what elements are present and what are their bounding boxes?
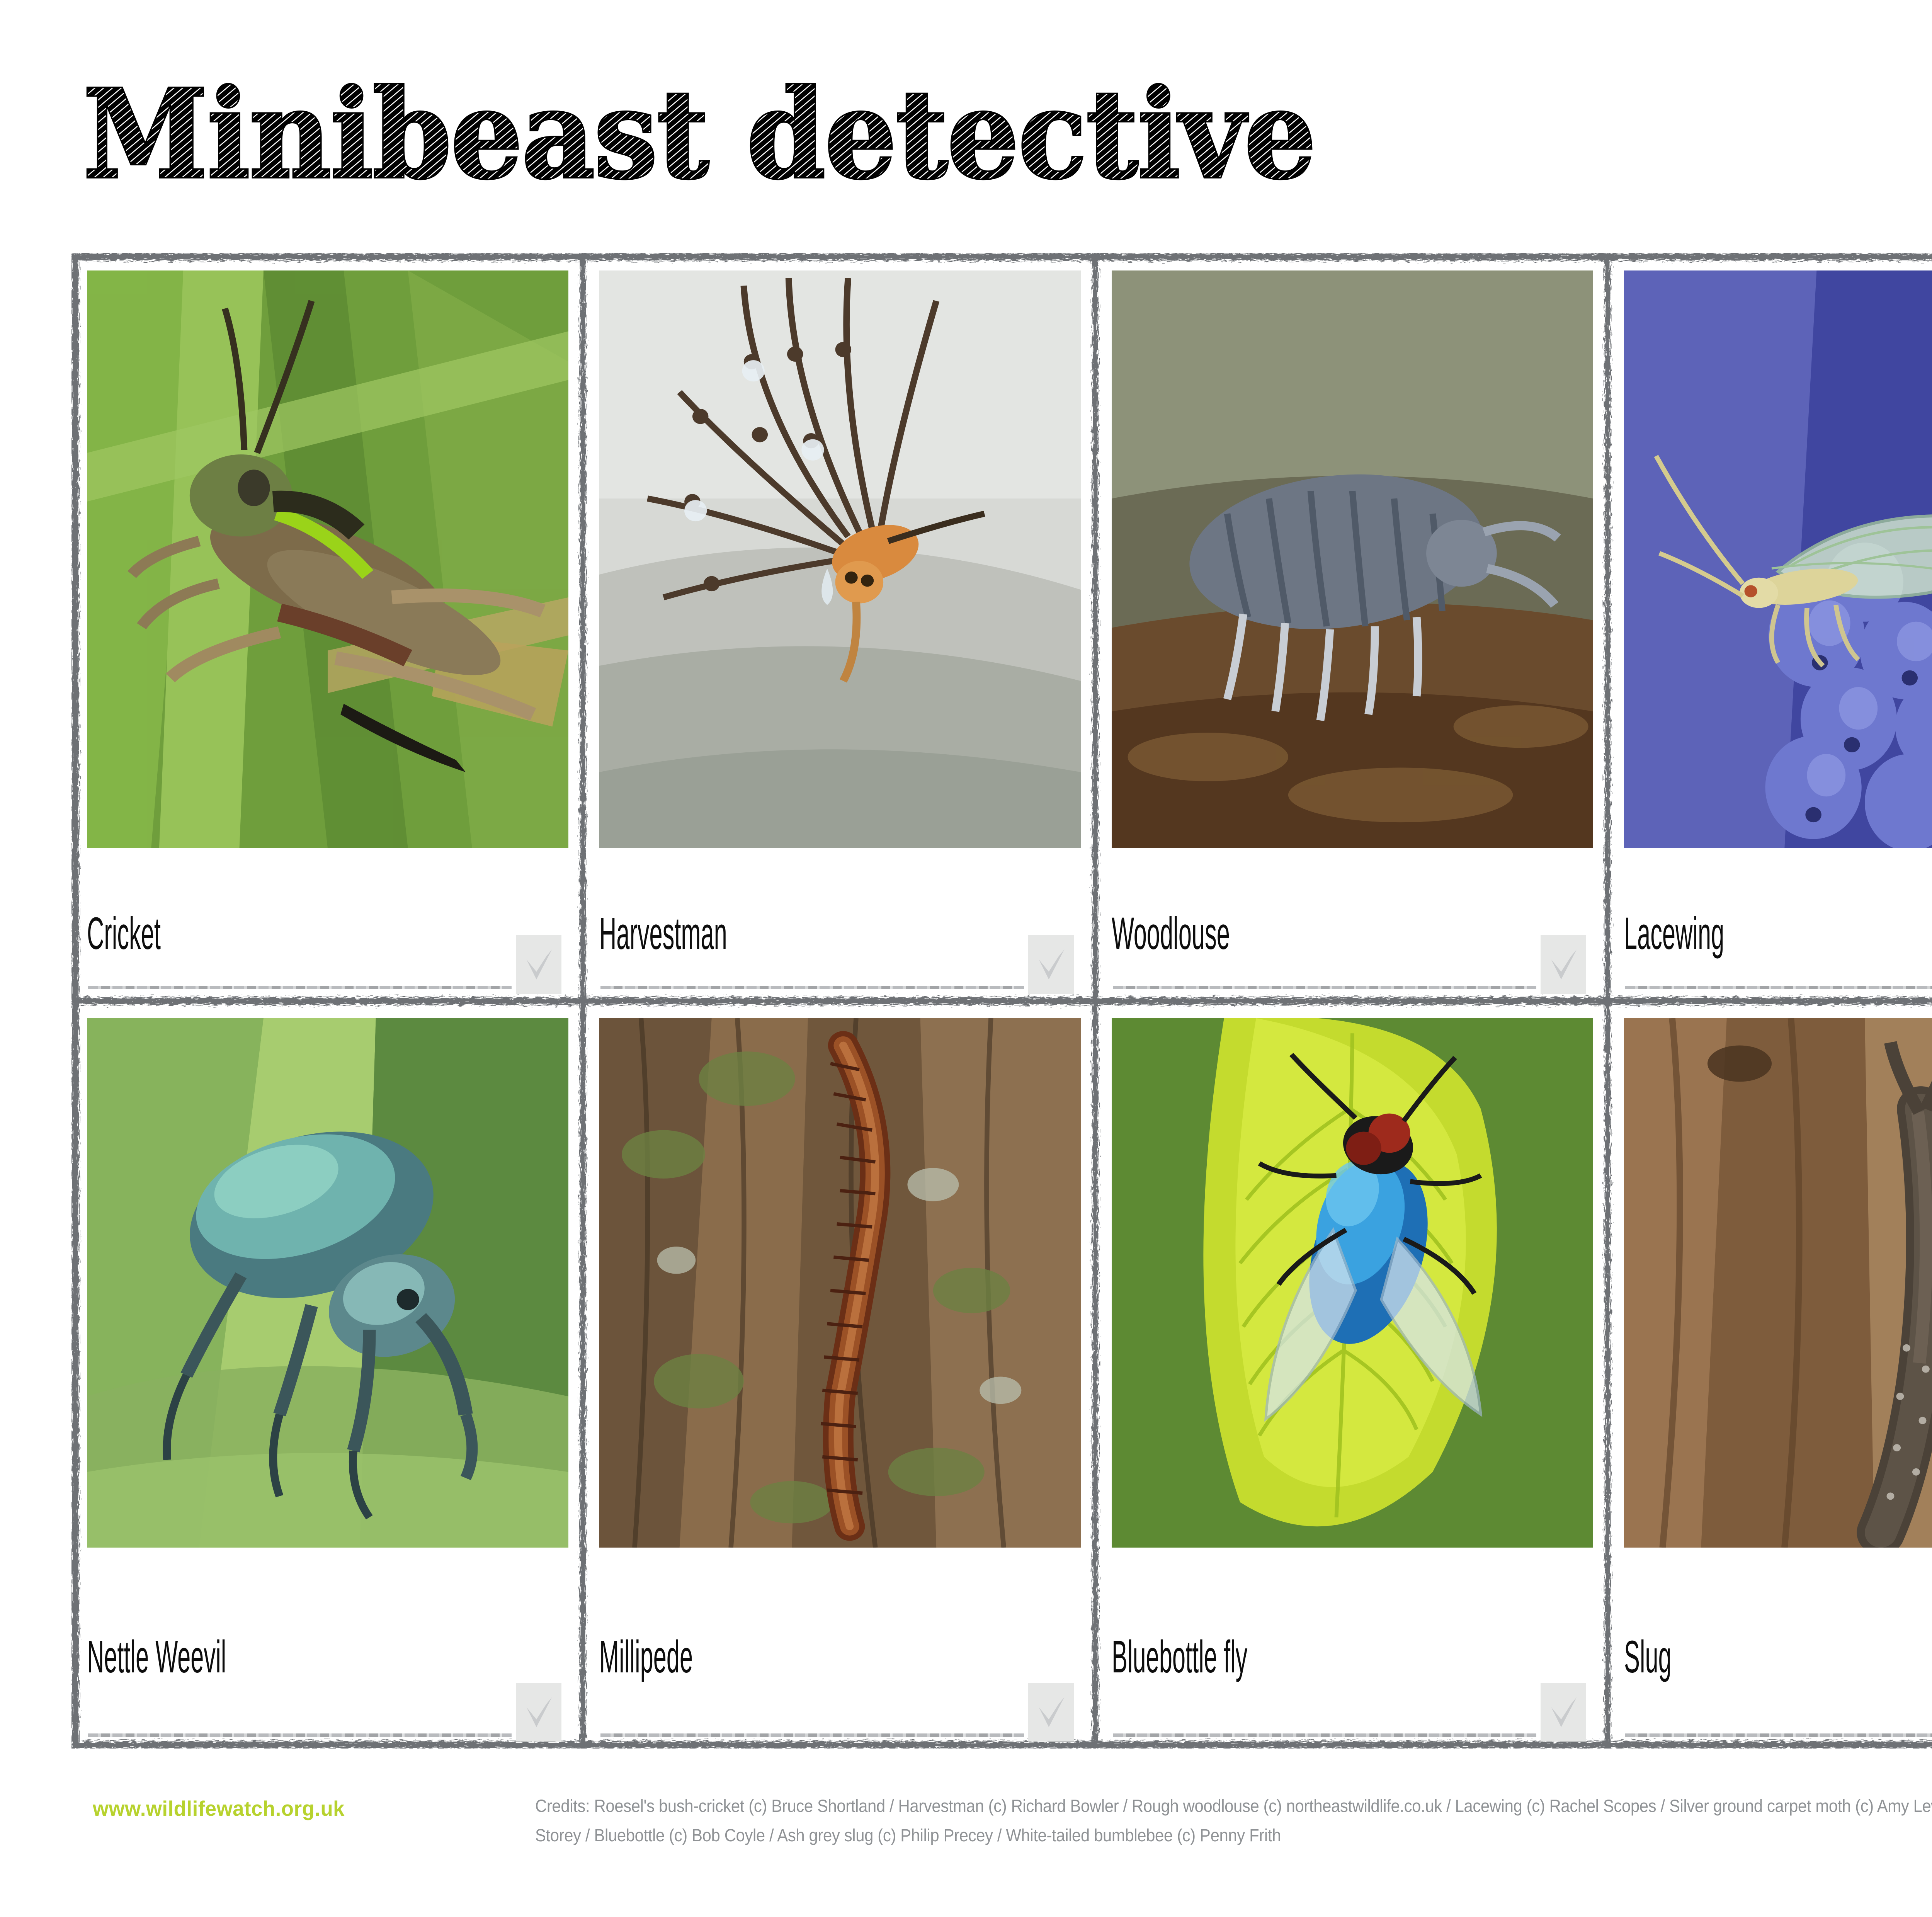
minibeast-card[interactable]: Woodlouse [1096,253,1609,1001]
card-label: Millipede [599,1634,850,1680]
check-icon [1547,1693,1580,1732]
minibeast-card[interactable]: Lacewing [1609,253,1932,1001]
nettle-weevil-photo [87,1018,568,1548]
card-label: Slug [1624,1634,1874,1680]
write-line [600,1733,1024,1737]
card-label-row: Lacewing [1624,848,1932,1001]
card-label-row: Millipede [599,1548,1081,1749]
card-label: Nettle Weevil [87,1634,337,1680]
write-line [1625,986,1932,989]
page-header: Minibeast detective Supported by players… [0,0,1932,240]
lacewing-photo [1624,270,1932,848]
write-line [88,1733,512,1737]
page-footer: www.wildlifewatch.org.uk Credits: Roesel… [0,1778,1932,1905]
write-line [1625,1733,1932,1737]
minibeast-card[interactable]: Cricket [71,253,584,1001]
checkbox[interactable] [1541,935,1586,994]
minibeast-card[interactable]: Harvestman [584,253,1096,1001]
checkbox[interactable] [516,1683,561,1742]
card-label-row: Slug [1624,1548,1932,1749]
write-line [600,986,1024,989]
check-icon [1034,945,1068,984]
write-line [1113,1733,1536,1737]
checkbox[interactable] [1541,1683,1586,1742]
slug-photo [1624,1018,1932,1548]
check-icon [1547,945,1580,984]
card-label-row: Bluebottle fly [1112,1548,1593,1749]
minibeast-card-grid: Cricket [71,253,1932,1749]
card-label: Lacewing [1624,911,1874,956]
write-line [88,986,512,989]
checkbox[interactable] [516,935,561,994]
card-label-row: Woodlouse [1112,848,1593,1001]
cricket-photo [87,270,568,848]
card-label-row: Cricket [87,848,568,1001]
check-icon [1034,1693,1068,1732]
card-label: Harvestman [599,911,850,956]
page-title: Minibeast detective [83,68,1783,195]
bluebottle-fly-photo [1112,1018,1593,1548]
minibeast-card[interactable]: Slug [1609,1001,1932,1749]
title-sketch: Minibeast detective [83,68,1783,195]
svg-text:Minibeast detective: Minibeast detective [83,68,1315,195]
checkbox[interactable] [1028,1683,1074,1742]
photo-credits: Credits: Roesel's bush-cricket (c) Bruce… [535,1791,1932,1850]
card-label-row: Harvestman [599,848,1081,1001]
millipede-photo [599,1018,1081,1548]
check-icon [522,945,555,984]
minibeast-card[interactable]: Bluebottle fly [1096,1001,1609,1749]
woodlouse-photo [1112,270,1593,848]
website-link[interactable]: www.wildlifewatch.org.uk [93,1796,345,1821]
card-label: Cricket [87,911,337,956]
write-line [1113,986,1536,989]
checkbox[interactable] [1028,935,1074,994]
card-label: Bluebottle fly [1112,1634,1362,1680]
card-label-row: Nettle Weevil [87,1548,568,1749]
check-icon [522,1693,555,1732]
harvestman-photo [599,270,1081,848]
minibeast-card[interactable]: Millipede [584,1001,1096,1749]
card-label: Woodlouse [1112,911,1362,956]
minibeast-grid-sheet: Cricket [71,253,1932,1749]
minibeast-card[interactable]: Nettle Weevil [71,1001,584,1749]
